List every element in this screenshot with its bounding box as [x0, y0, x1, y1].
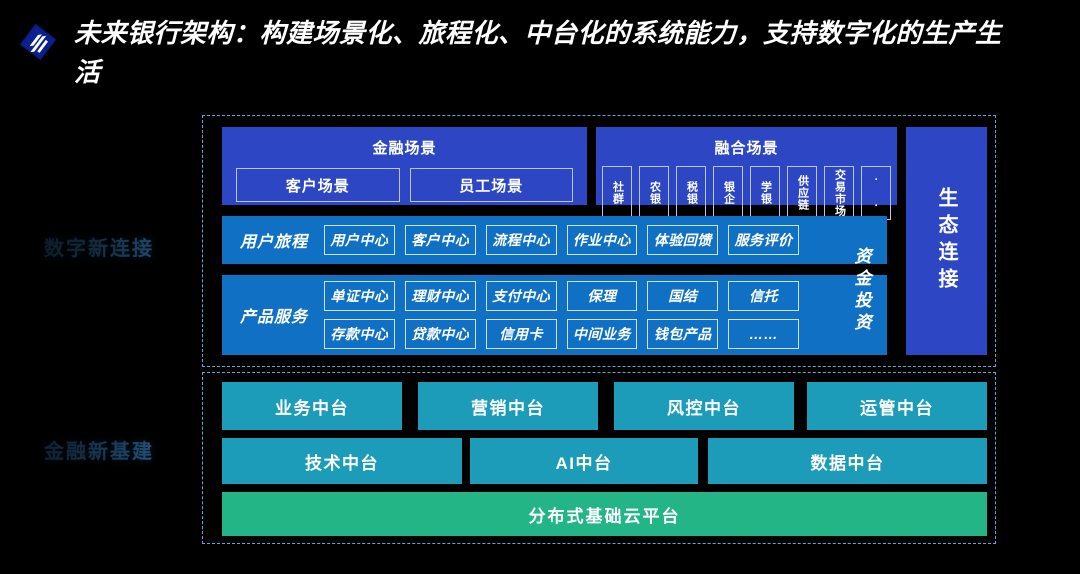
product-service-chip-row-1: 单证中心 理财中心 支付中心 保理 国结 信托	[324, 281, 799, 311]
page-title: 未来银行架构：构建场景化、旅程化、中台化的系统能力，支持数字化的生产生活	[74, 14, 1009, 92]
chip-trust[interactable]: 信托	[728, 281, 799, 311]
tile-business-midplatform[interactable]: 业务中台	[222, 382, 402, 430]
chip-deposit-center[interactable]: 存款中心	[324, 319, 395, 349]
section-label-financial-infrastructure: 金融新基建	[44, 435, 154, 464]
tile-data-midplatform[interactable]: 数据中台	[708, 438, 987, 484]
panel-product-service-label: 产品服务	[240, 303, 308, 327]
chip-credit-card[interactable]: 信用卡	[486, 319, 557, 349]
tile-distributed-cloud-platform[interactable]: 分布式基础云平台	[222, 492, 987, 536]
chip-more-ellipsis[interactable]: · ·	[861, 166, 891, 220]
chip-payment-center[interactable]: 支付中心	[486, 281, 557, 311]
slide-header: 未来银行架构：构建场景化、旅程化、中台化的系统能力，支持数字化的生产生活	[0, 0, 1080, 105]
panel-fusion-scene-title: 融合场景	[714, 137, 778, 158]
panel-ecosystem-connection[interactable]: 生态连接	[906, 127, 987, 355]
chip-experience-feedback[interactable]: 体验回馈	[647, 225, 718, 255]
chip-trade-market[interactable]: 交易市场	[824, 166, 854, 220]
panel-fusion-scene[interactable]: 融合场景 社群 农银 税银 银企 学银 供应链 交易市场 · ·	[596, 127, 897, 205]
panel-fund-investment-label: 资金投资	[849, 247, 874, 335]
fusion-scene-chip-row: 社群 农银 税银 银企 学银 供应链 交易市场 · ·	[596, 166, 897, 220]
panel-finance-scene-title: 金融场景	[372, 137, 436, 158]
chip-tax-bank[interactable]: 税银	[676, 166, 706, 220]
tile-operations-midplatform[interactable]: 运管中台	[807, 382, 987, 430]
chip-more-products[interactable]: ……	[728, 319, 799, 349]
chip-wallet-product[interactable]: 钱包产品	[647, 319, 718, 349]
panel-fund-investment[interactable]: 资金投资	[838, 228, 884, 353]
product-service-chip-stack: 单证中心 理财中心 支付中心 保理 国结 信托 存款中心 贷款中心 信用卡 中间…	[324, 281, 887, 349]
chip-process-center[interactable]: 流程中心	[486, 225, 557, 255]
panel-product-service[interactable]: 产品服务 单证中心 理财中心 支付中心 保理 国结 信托 存款中心 贷款中心 信…	[222, 275, 887, 355]
chip-agri-bank[interactable]: 农银	[639, 166, 669, 220]
panel-user-journey-label: 用户旅程	[240, 228, 308, 252]
chip-service-evaluation[interactable]: 服务评价	[728, 225, 799, 255]
panel-ecosystem-connection-label: 生态连接	[932, 187, 961, 295]
chip-intl-settlement[interactable]: 国结	[647, 281, 718, 311]
slide-canvas: 未来银行架构：构建场景化、旅程化、中台化的系统能力，支持数字化的生产生活 数字新…	[0, 0, 1080, 574]
chip-edu-bank[interactable]: 学银	[750, 166, 780, 220]
panel-finance-scene[interactable]: 金融场景 客户场景 员工场景	[222, 127, 587, 205]
chip-operation-center[interactable]: 作业中心	[567, 225, 638, 255]
chip-document-center[interactable]: 单证中心	[324, 281, 395, 311]
chip-employee-scene[interactable]: 员工场景	[410, 168, 574, 202]
tile-technology-midplatform[interactable]: 技术中台	[222, 438, 462, 484]
chip-supply-chain[interactable]: 供应链	[787, 166, 817, 220]
chip-loan-center[interactable]: 贷款中心	[405, 319, 476, 349]
tile-ai-midplatform[interactable]: AI中台	[470, 438, 698, 484]
chip-intermediary-business[interactable]: 中间业务	[567, 319, 638, 349]
chip-customer-center[interactable]: 客户中心	[405, 225, 476, 255]
chip-community[interactable]: 社群	[602, 166, 632, 220]
chip-bank-enterprise[interactable]: 银企	[713, 166, 743, 220]
panel-user-journey[interactable]: 用户旅程 用户中心 客户中心 流程中心 作业中心 体验回馈 服务评价	[222, 216, 887, 264]
chip-customer-scene[interactable]: 客户场景	[236, 168, 400, 202]
chip-factoring[interactable]: 保理	[567, 281, 638, 311]
tile-marketing-midplatform[interactable]: 营销中台	[418, 382, 598, 430]
user-journey-chip-row: 用户中心 客户中心 流程中心 作业中心 体验回馈 服务评价	[324, 225, 887, 255]
tile-riskcontrol-midplatform[interactable]: 风控中台	[614, 382, 794, 430]
chip-user-center[interactable]: 用户中心	[324, 225, 395, 255]
company-logo	[17, 21, 59, 63]
section-label-digital-connection: 数字新连接	[44, 232, 154, 261]
product-service-chip-row-2: 存款中心 贷款中心 信用卡 中间业务 钱包产品 ……	[324, 319, 799, 349]
finance-scene-chip-row: 客户场景 员工场景	[222, 168, 587, 202]
chip-wealth-center[interactable]: 理财中心	[405, 281, 476, 311]
